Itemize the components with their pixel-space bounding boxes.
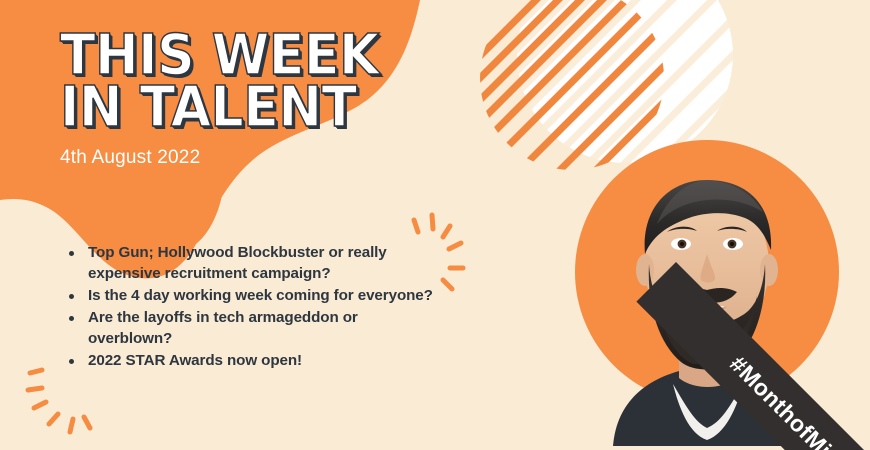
- list-item: Top Gun; Hollywood Blockbuster or really…: [62, 243, 442, 285]
- list-item: Are the layoffs in tech armageddon or ov…: [62, 308, 442, 350]
- title-block: THIS WEEK IN TALENT 4th August 2022: [60, 30, 480, 169]
- promo-banner: THIS WEEK IN TALENT 4th August 2022 Top …: [0, 0, 870, 450]
- headline-list: Top Gun; Hollywood Blockbuster or really…: [62, 243, 442, 373]
- title-line-2: IN TALENT: [60, 82, 451, 134]
- list-item: 2022 STAR Awards now open!: [62, 351, 442, 372]
- issue-date: 4th August 2022: [60, 147, 480, 169]
- list-item: Is the 4 day working week coming for eve…: [62, 286, 442, 307]
